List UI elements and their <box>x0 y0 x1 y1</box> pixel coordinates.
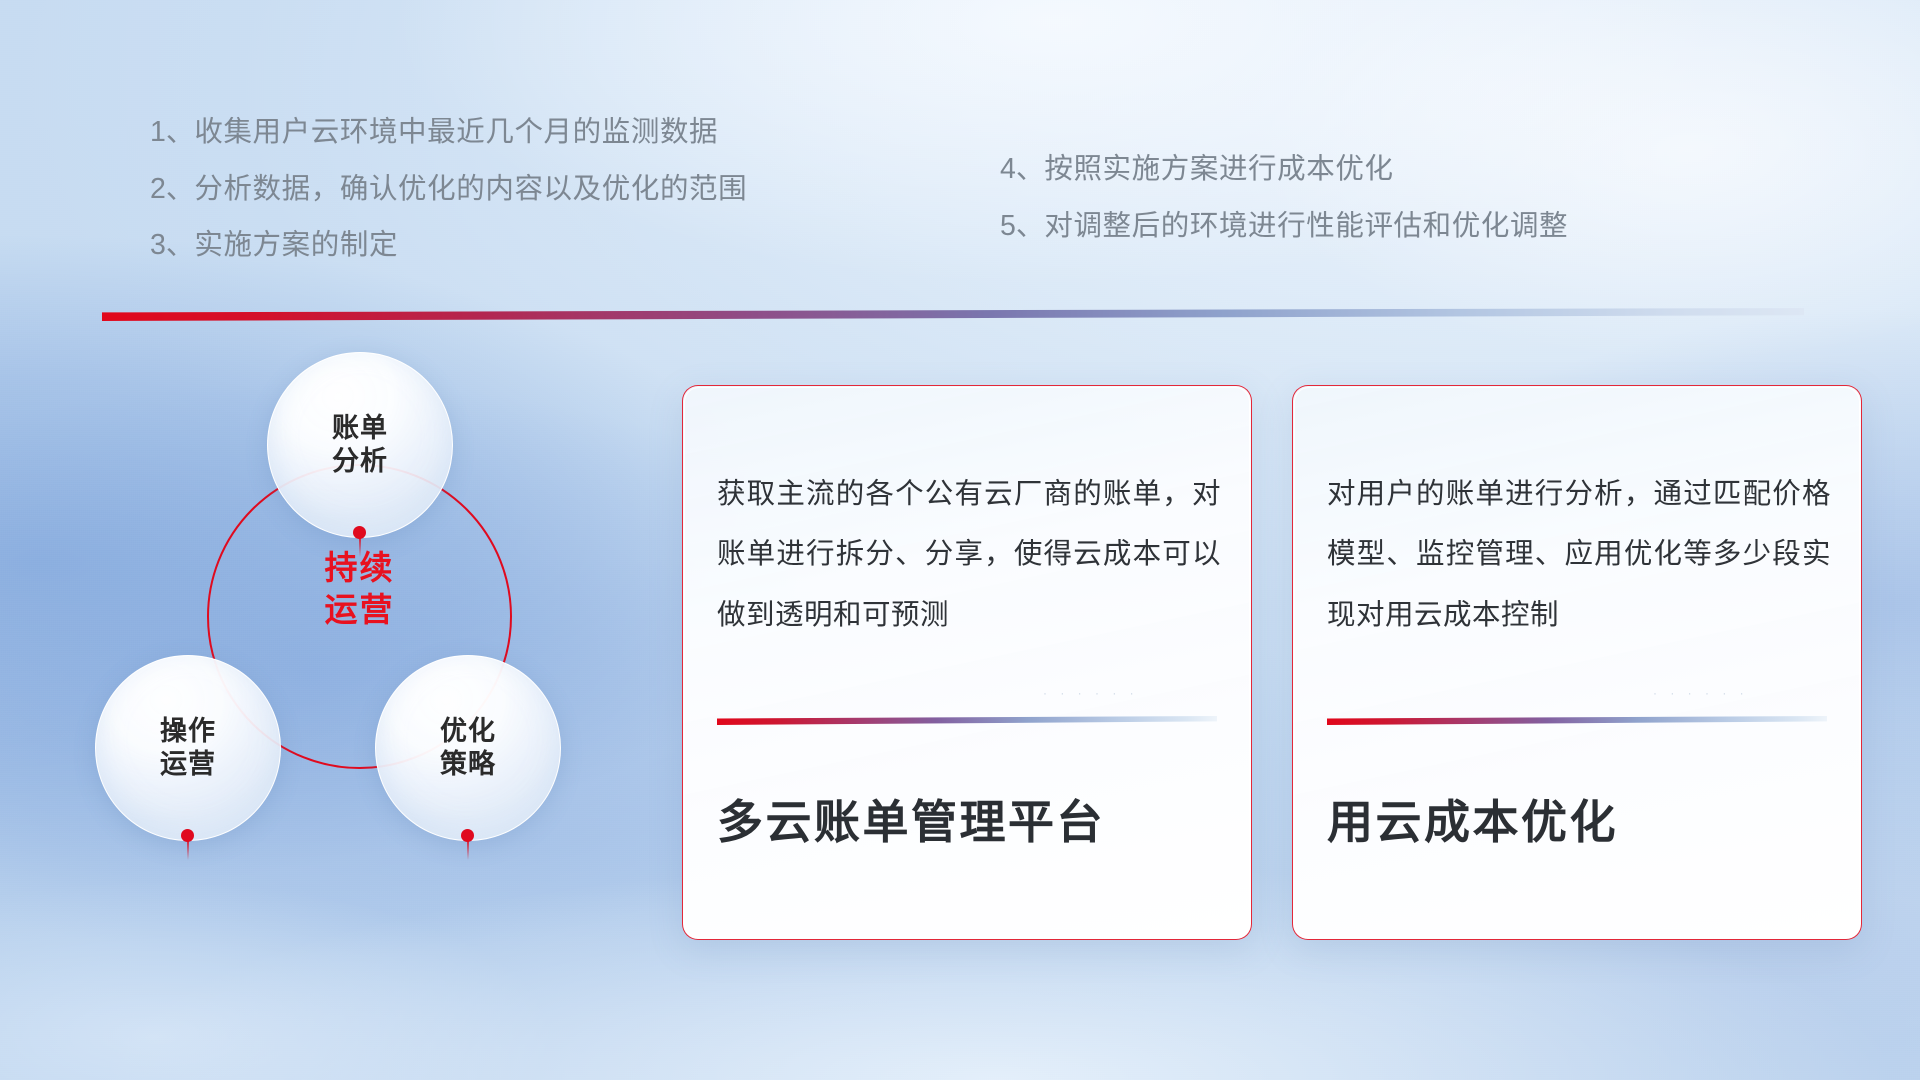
step-item: 1、收集用户云环境中最近几个月的监测数据 <box>150 118 747 147</box>
venn-bubble-bill-analysis[interactable]: 账单 分析 <box>267 352 453 538</box>
venn-node-dot-bottom-right <box>461 829 474 842</box>
step-item: 5、对调整后的环境进行性能评估和优化调整 <box>1000 212 1568 241</box>
bubble-label-line2: 策略 <box>440 748 496 781</box>
step-text: 对调整后的环境进行性能评估和优化调整 <box>1044 210 1568 242</box>
step-text: 收集用户云环境中最近几个月的监测数据 <box>194 116 718 148</box>
venn-node-dot-top <box>353 526 366 539</box>
step-number: 4、 <box>1000 153 1044 185</box>
venn-node-dot-bottom-left <box>181 829 194 842</box>
card-body-text: 获取主流的各个公有云厂商的账单，对账单进行拆分、分享，使得云成本可以做到透明和可… <box>717 464 1221 645</box>
step-number: 3、 <box>150 229 194 261</box>
step-text: 实施方案的制定 <box>194 229 398 261</box>
card-title: 多云账单管理平台 <box>717 786 1105 852</box>
step-number: 2、 <box>150 173 194 205</box>
step-text: 分析数据，确认优化的内容以及优化的范围 <box>194 173 747 205</box>
venn-node-tail-top <box>359 538 361 557</box>
steps-section: 1、收集用户云环境中最近几个月的监测数据 2、分析数据，确认优化的内容以及优化的… <box>0 0 1920 300</box>
feature-card-cloud-cost-optimization[interactable]: 对用户的账单进行分析，通过匹配价格模型、监控管理、应用优化等多少段实现对用云成本… <box>1292 385 1862 940</box>
bubble-label-line1: 账单 <box>332 412 388 445</box>
step-number: 5、 <box>1000 210 1044 242</box>
step-text: 按照实施方案进行成本优化 <box>1044 153 1393 185</box>
steps-left-column: 1、收集用户云环境中最近几个月的监测数据 2、分析数据，确认优化的内容以及优化的… <box>150 118 747 288</box>
bubble-label-line2: 分析 <box>332 445 388 478</box>
section-divider <box>102 308 1804 321</box>
bubble-label-line1: 优化 <box>440 715 496 748</box>
card-dots-decoration: · · · · · · <box>1653 686 1749 700</box>
venn-bubble-optimization-strategy[interactable]: 优化 策略 <box>375 655 561 841</box>
card-body-text: 对用户的账单进行分析，通过匹配价格模型、监控管理、应用优化等多少段实现对用云成本… <box>1327 464 1831 645</box>
feature-card-multicloud-billing[interactable]: 获取主流的各个公有云厂商的账单，对账单进行拆分、分享，使得云成本可以做到透明和可… <box>682 385 1252 940</box>
venn-bubble-operations[interactable]: 操作 运营 <box>95 655 281 841</box>
bubble-label-line2: 运营 <box>160 748 216 781</box>
step-item: 3、实施方案的制定 <box>150 231 747 260</box>
venn-diagram: 账单 分析 操作 运营 优化 策略 持续 运营 <box>95 352 635 952</box>
step-item: 4、按照实施方案进行成本优化 <box>1000 155 1568 184</box>
card-title: 用云成本优化 <box>1327 786 1618 852</box>
steps-right-column: 4、按照实施方案进行成本优化 5、对调整后的环境进行性能评估和优化调整 <box>1000 155 1568 268</box>
step-item: 2、分析数据，确认优化的内容以及优化的范围 <box>150 175 747 204</box>
venn-node-tail-bottom-right <box>467 841 469 860</box>
card-rule-gradient-wedge <box>1327 716 1827 725</box>
card-dots-decoration: · · · · · · <box>1043 686 1139 700</box>
step-number: 1、 <box>150 116 194 148</box>
venn-node-tail-bottom-left <box>187 841 189 860</box>
card-accent-rule <box>1327 716 1827 725</box>
card-rule-gradient-wedge <box>717 716 1217 725</box>
divider-gradient-wedge <box>102 308 1804 321</box>
card-accent-rule <box>717 716 1217 725</box>
bubble-label-line1: 操作 <box>160 715 216 748</box>
